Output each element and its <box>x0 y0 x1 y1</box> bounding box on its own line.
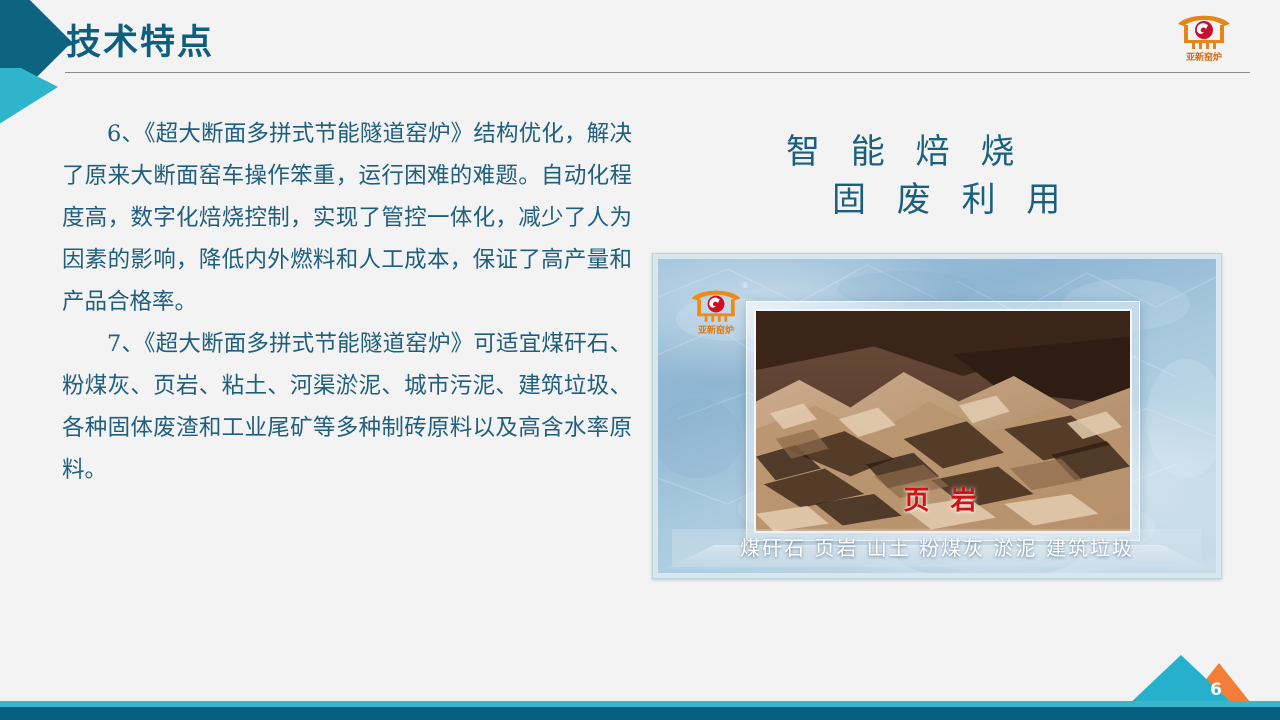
logo-brand-text: 亚新窑炉 <box>1172 50 1236 63</box>
paragraph-6: 6、《超大断面多拼式节能隧道窑炉》结构优化，解决了原来大断面窑车操作笨重，运行困… <box>62 113 632 323</box>
video-preview-card[interactable]: ® 亚新窑炉 <box>652 253 1222 579</box>
paragraph-7: 7、《超大断面多拼式节能隧道窑炉》可适宜煤矸石、粉煤灰、页岩、粘土、河渠淤泥、城… <box>62 323 632 491</box>
material-list-caption: 煤矸石 页岩 山土 粉煤灰 淤泥 建筑垃圾 <box>658 532 1216 561</box>
logo-brand-text: 亚新窑炉 <box>686 323 746 336</box>
body-text-block: 6、《超大断面多拼式节能隧道窑炉》结构优化，解决了原来大断面窑车操作笨重，运行困… <box>62 113 632 491</box>
page-number: 6 <box>1210 680 1222 700</box>
slide-canvas: 技术特点 亚新窑炉 6、《超大断面多拼式节能隧道窑炉》结构优化，解决了原来大断面… <box>0 0 1280 720</box>
header-chevron-light-icon <box>0 68 58 124</box>
page-title: 技术特点 <box>66 21 214 65</box>
headline-block: 智 能 焙 烧 固 废 利 用 <box>760 128 1180 224</box>
headline-line-2: 固 废 利 用 <box>760 176 1180 224</box>
kiln-logo-icon <box>1172 10 1236 50</box>
kiln-logo-icon <box>686 285 746 323</box>
headline-line-1: 智 能 焙 烧 <box>760 128 1180 176</box>
company-logo: 亚新窑炉 <box>1172 6 1236 64</box>
shale-photo: 页 岩 <box>754 309 1132 533</box>
photo-glass-plate: 页 岩 <box>746 301 1140 541</box>
title-divider <box>65 72 1250 73</box>
video-company-logo: ® 亚新窑炉 <box>686 283 746 339</box>
footer-bar <box>0 707 1280 720</box>
photo-label: 页 岩 <box>756 480 1130 517</box>
video-background: ® 亚新窑炉 <box>658 259 1216 573</box>
